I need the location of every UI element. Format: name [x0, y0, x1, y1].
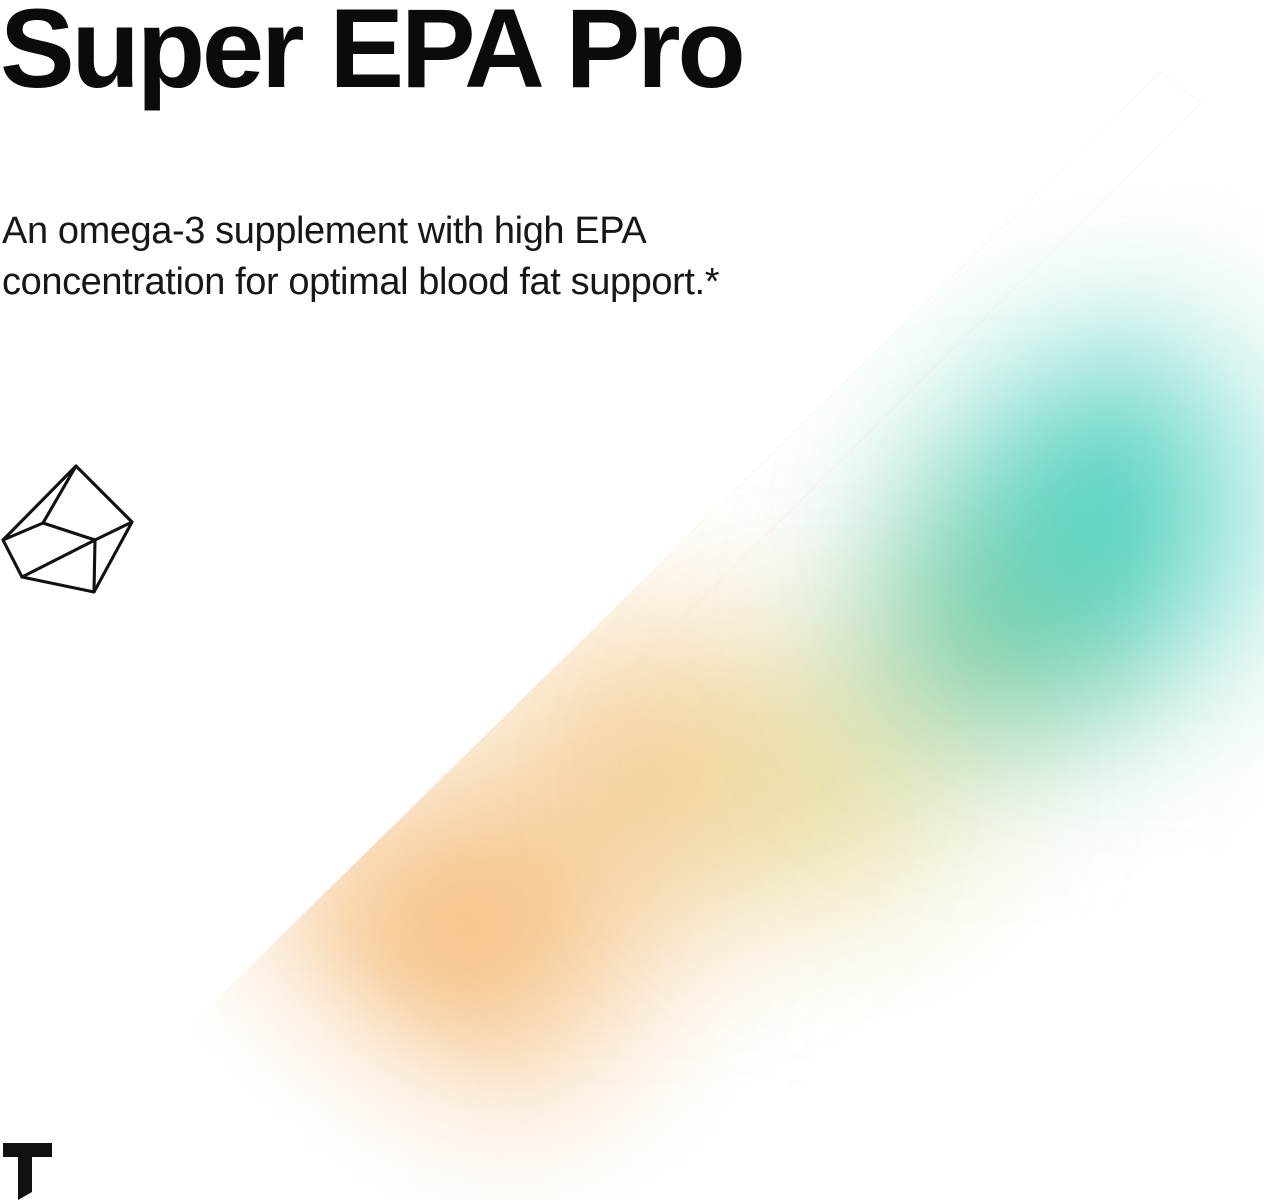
page-title: Super EPA Pro [0, 0, 743, 111]
product-hero-card: Super EPA Pro An omega-3 supplement with… [0, 0, 1264, 1200]
product-description: An omega-3 supplement with high EPA conc… [2, 206, 742, 308]
polyhedron-icon [0, 455, 145, 605]
hero-content: Super EPA Pro An omega-3 supplement with… [0, 0, 1264, 1200]
brand-t-logo [0, 1138, 60, 1200]
